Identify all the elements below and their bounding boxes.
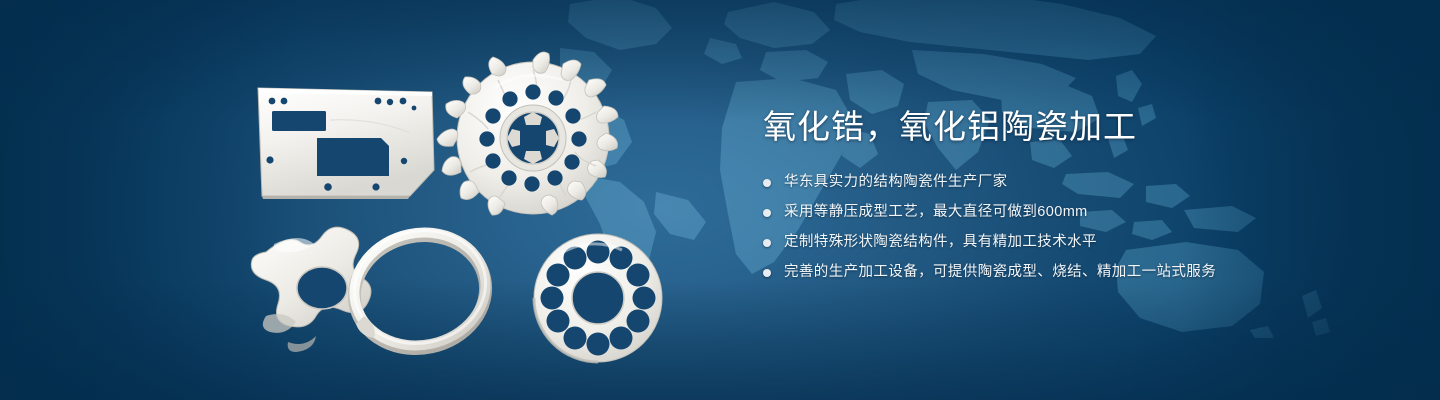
feature-text: 华东具实力的结构陶瓷件生产厂家 — [784, 173, 1008, 193]
bullet-dot-icon — [763, 209, 771, 217]
feature-text: 采用等静压成型工艺，最大直径可做到600mm — [784, 203, 1088, 223]
banner-headline: 氧化锆，氧化铝陶瓷加工 — [763, 108, 1383, 147]
bullet-dot-icon — [763, 179, 771, 187]
bullet-dot-icon — [763, 239, 771, 247]
product-ceramic-perforated-disc — [534, 234, 662, 362]
feature-text: 完善的生产加工设备，可提供陶瓷成型、烧结、精加工一站式服务 — [784, 263, 1216, 283]
feature-text: 定制特殊形状陶瓷结构件，具有精加工技术水平 — [784, 233, 1097, 253]
product-ceramic-plate — [258, 88, 434, 199]
feature-item-3: 定制特殊形状陶瓷结构件，具有精加工技术水平 — [763, 233, 1383, 253]
product-image-group — [0, 0, 720, 400]
product-ceramic-impeller — [437, 52, 618, 215]
feature-item-1: 华东具实力的结构陶瓷件生产厂家 — [763, 173, 1383, 193]
feature-list: 华东具实力的结构陶瓷件生产厂家 采用等静压成型工艺，最大直径可做到600mm 定… — [763, 173, 1383, 283]
bullet-dot-icon — [763, 269, 771, 277]
promo-banner: 氧化锆，氧化铝陶瓷加工 华东具实力的结构陶瓷件生产厂家 采用等静压成型工艺，最大… — [0, 0, 1440, 400]
feature-item-2: 采用等静压成型工艺，最大直径可做到600mm — [763, 203, 1383, 223]
feature-item-4: 完善的生产加工设备，可提供陶瓷成型、烧结、精加工一站式服务 — [763, 263, 1383, 283]
banner-copy: 氧化锆，氧化铝陶瓷加工 华东具实力的结构陶瓷件生产厂家 采用等静压成型工艺，最大… — [763, 108, 1383, 293]
